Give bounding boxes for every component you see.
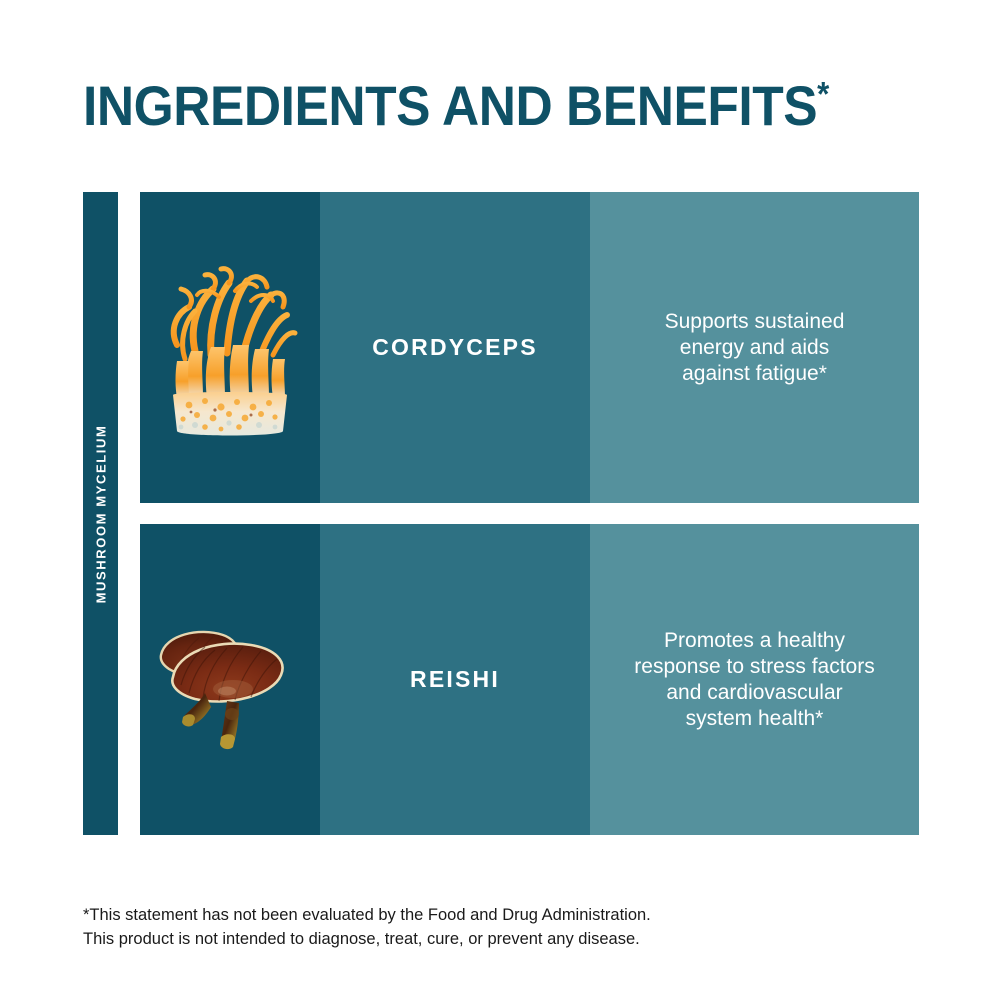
disclaimer-text: *This statement has not been evaluated b…: [83, 903, 783, 951]
table-row: REISHI Promotes a healthy response to st…: [140, 524, 919, 835]
ingredient-name: CORDYCEPS: [372, 334, 538, 361]
ingredient-image-cell: [140, 524, 320, 835]
ingredient-image-cell: [140, 192, 320, 503]
reishi-mushroom-icon: [155, 605, 305, 755]
ingredient-benefit-cell: Supports sustained energy and aids again…: [590, 192, 919, 503]
ingredient-name-cell: CORDYCEPS: [320, 192, 590, 503]
ingredient-benefit-cell: Promotes a healthy response to stress fa…: [590, 524, 919, 835]
page-title-asterisk: *: [817, 75, 829, 113]
ingredient-name: REISHI: [410, 666, 500, 693]
table-rows: CORDYCEPS Supports sustained energy and …: [140, 192, 919, 835]
cordyceps-mushroom-icon: [155, 255, 305, 440]
page-title-text: INGREDIENTS AND BENEFITS: [83, 74, 817, 137]
table-row: CORDYCEPS Supports sustained energy and …: [140, 192, 919, 503]
category-bar-label: MUSHROOM MYCELIUM: [93, 424, 108, 603]
ingredient-benefit: Supports sustained energy and aids again…: [647, 309, 863, 387]
page-title: INGREDIENTS AND BENEFITS*: [83, 78, 829, 134]
ingredient-benefit: Promotes a healthy response to stress fa…: [616, 628, 892, 732]
category-bar: MUSHROOM MYCELIUM: [83, 192, 118, 835]
ingredient-name-cell: REISHI: [320, 524, 590, 835]
ingredients-benefits-table: MUSHROOM MYCELIUM: [83, 192, 919, 835]
